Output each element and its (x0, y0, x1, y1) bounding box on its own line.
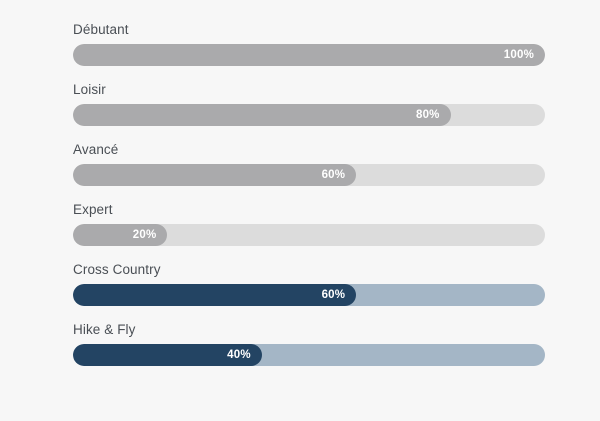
skill-progress-track: 20% (73, 224, 545, 246)
skill-label: Cross Country (73, 262, 545, 284)
skills-panel: Débutant 100% Loisir 80% Avancé 60% Expe… (0, 0, 600, 421)
skill-progress-fill: 60% (73, 284, 356, 306)
skill-progress-value: 60% (322, 284, 346, 306)
skill-progress-value: 60% (322, 164, 346, 186)
skill-progress-track: 60% (73, 164, 545, 186)
skill-row: Débutant 100% (73, 22, 545, 82)
skill-progress-value: 40% (227, 344, 251, 366)
skill-label: Avancé (73, 142, 545, 164)
skill-row: Expert 20% (73, 202, 545, 262)
skill-progress-track: 80% (73, 104, 545, 126)
skill-label: Expert (73, 202, 545, 224)
skill-row: Hike & Fly 40% (73, 322, 545, 382)
skill-progress-fill: 80% (73, 104, 451, 126)
skill-progress-fill: 20% (73, 224, 167, 246)
skill-progress-track: 60% (73, 284, 545, 306)
skill-label: Hike & Fly (73, 322, 545, 344)
skill-progress-fill: 40% (73, 344, 262, 366)
skill-row: Cross Country 60% (73, 262, 545, 322)
skill-progress-value: 80% (416, 104, 440, 126)
skill-progress-value: 20% (133, 224, 157, 246)
skill-progress-fill: 60% (73, 164, 356, 186)
skill-progress-fill: 100% (73, 44, 545, 66)
skill-progress-value: 100% (504, 44, 534, 66)
skill-row: Loisir 80% (73, 82, 545, 142)
skill-progress-track: 100% (73, 44, 545, 66)
skill-label: Loisir (73, 82, 545, 104)
skill-progress-track: 40% (73, 344, 545, 366)
skill-label: Débutant (73, 22, 545, 44)
skill-row: Avancé 60% (73, 142, 545, 202)
